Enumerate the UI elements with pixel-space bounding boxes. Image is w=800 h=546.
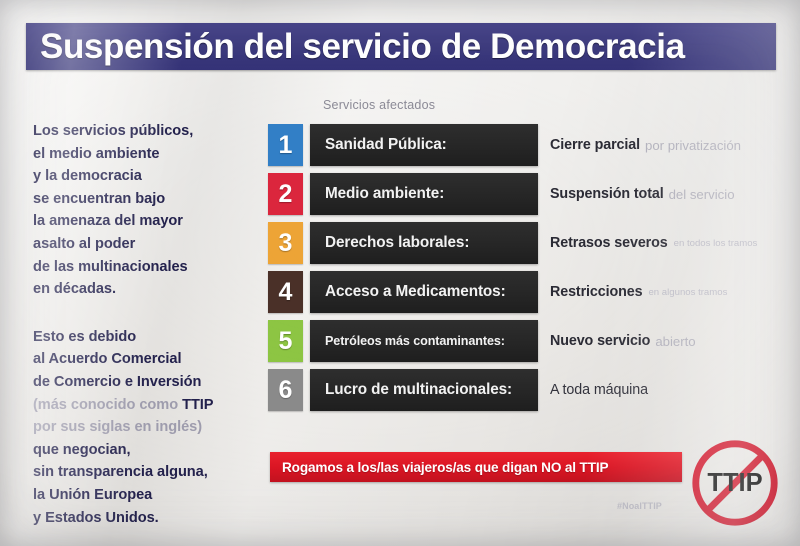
service-name-label: Sanidad Pública:: [325, 136, 447, 154]
paragraph-threat: Los servicios públicos, el medio ambient…: [33, 120, 261, 301]
service-status-secondary: del servicio: [669, 187, 735, 202]
service-number-badge: 1: [268, 124, 303, 166]
service-number-badge: 5: [268, 320, 303, 362]
svg-text:TTIP: TTIP: [707, 469, 762, 497]
title-banner: Suspensión del servicio de Democracia: [26, 23, 776, 70]
cta-regular: Rogamos a los/las viajeros/as que digan: [282, 460, 541, 475]
service-status-secondary: abierto: [655, 334, 695, 349]
service-row: 1Sanidad Pública:Cierre parcialpor priva…: [268, 124, 788, 166]
service-name-bar: Sanidad Pública:: [310, 124, 538, 166]
paragraph1-line: en décadas.: [33, 278, 261, 301]
service-status-secondary: por privatización: [645, 138, 741, 153]
paragraph2-line: al Acuerdo Comercial: [33, 348, 261, 371]
paragraph2-line: y Estados Unidos.: [33, 507, 261, 530]
service-row: 5Petróleos más contaminantes:Nuevo servi…: [268, 320, 788, 362]
service-row: 2Medio ambiente:Suspensión totaldel serv…: [268, 173, 788, 215]
page-title: Suspensión del servicio de Democracia: [40, 27, 685, 67]
service-status-primary: A toda máquina: [550, 382, 648, 398]
paragraph2-muted-line1: (más conocido como TTIP: [33, 394, 261, 417]
service-name-bar: Derechos laborales:: [310, 222, 538, 264]
service-status: Retrasos severosen todos los tramos: [550, 222, 788, 264]
service-name-bar: Petróleos más contaminantes:: [310, 320, 538, 362]
affected-services-list: 1Sanidad Pública:Cierre parcialpor priva…: [268, 124, 788, 418]
paragraph2-muted-line2: por sus siglas en inglés): [33, 416, 261, 439]
service-name-bar: Acceso a Medicamentos:: [310, 271, 538, 313]
service-number-badge: 2: [268, 173, 303, 215]
no-ttip-prohibition-icon: TTIP: [686, 434, 784, 532]
paragraph2-line: Esto es debido: [33, 326, 261, 349]
paragraph1-line: de las multinacionales: [33, 256, 261, 279]
paragraph1-line: la amenaza del mayor: [33, 210, 261, 233]
paragraph-ttip: Esto es debido al Acuerdo Comercial de C…: [33, 326, 261, 529]
service-status: Restriccionesen algunos tramos: [550, 271, 788, 313]
service-status-primary: Retrasos severos: [550, 235, 668, 251]
paragraph1-line: asalto al poder: [33, 233, 261, 256]
call-to-action-text: Rogamos a los/las viajeros/as que digan …: [282, 460, 608, 475]
paragraph2-line: que negocian,: [33, 439, 261, 462]
service-status-secondary: en algunos tramos: [648, 287, 727, 298]
paragraph2-line: la Unión Europea: [33, 484, 261, 507]
service-number-badge: 6: [268, 369, 303, 411]
service-name-label: Lucro de multinacionales:: [325, 381, 512, 399]
services-affected-header: Servicios afectados: [323, 98, 435, 112]
service-name-label: Derechos laborales:: [325, 234, 469, 252]
muted-pre: (más conocido como: [33, 397, 182, 413]
service-status-secondary: en todos los tramos: [674, 238, 758, 249]
call-to-action-banner: Rogamos a los/las viajeros/as que digan …: [270, 452, 682, 482]
service-name-bar: Lucro de multinacionales:: [310, 369, 538, 411]
paragraph1-line: se encuentran bajo: [33, 188, 261, 211]
service-status-primary: Restricciones: [550, 284, 642, 300]
service-name-label: Acceso a Medicamentos:: [325, 283, 506, 301]
service-name-label: Medio ambiente:: [325, 185, 444, 203]
left-text-column: Los servicios públicos, el medio ambient…: [33, 120, 261, 529]
service-status: Cierre parcialpor privatización: [550, 124, 788, 166]
service-number-badge: 4: [268, 271, 303, 313]
service-status-primary: Suspensión total: [550, 186, 664, 202]
paragraph1-line: el medio ambiente: [33, 143, 261, 166]
service-name-bar: Medio ambiente:: [310, 173, 538, 215]
service-status: Nuevo servicioabierto: [550, 320, 788, 362]
paragraph1-line: y la democracia: [33, 165, 261, 188]
poster-photo: Suspensión del servicio de Democracia Lo…: [0, 0, 800, 546]
service-name-label: Petróleos más contaminantes:: [325, 334, 505, 348]
cta-bold: NO al TTIP: [541, 460, 608, 475]
paragraph1-line: Los servicios públicos,: [33, 120, 261, 143]
service-number-badge: 3: [268, 222, 303, 264]
service-row: 6Lucro de multinacionales:A toda máquina: [268, 369, 788, 411]
service-status: A toda máquina: [550, 369, 788, 411]
paragraph2-line: sin transparencia alguna,: [33, 461, 261, 484]
service-status-primary: Cierre parcial: [550, 137, 640, 153]
service-row: 4Acceso a Medicamentos:Restriccionesen a…: [268, 271, 788, 313]
paragraph2-line: de Comercio e Inversión: [33, 371, 261, 394]
service-status-primary: Nuevo servicio: [550, 333, 650, 349]
ttip-acronym: TTIP: [182, 397, 213, 413]
hashtag-label: #NoalTTIP: [617, 501, 662, 511]
service-row: 3Derechos laborales:Retrasos severosen t…: [268, 222, 788, 264]
service-status: Suspensión totaldel servicio: [550, 173, 788, 215]
